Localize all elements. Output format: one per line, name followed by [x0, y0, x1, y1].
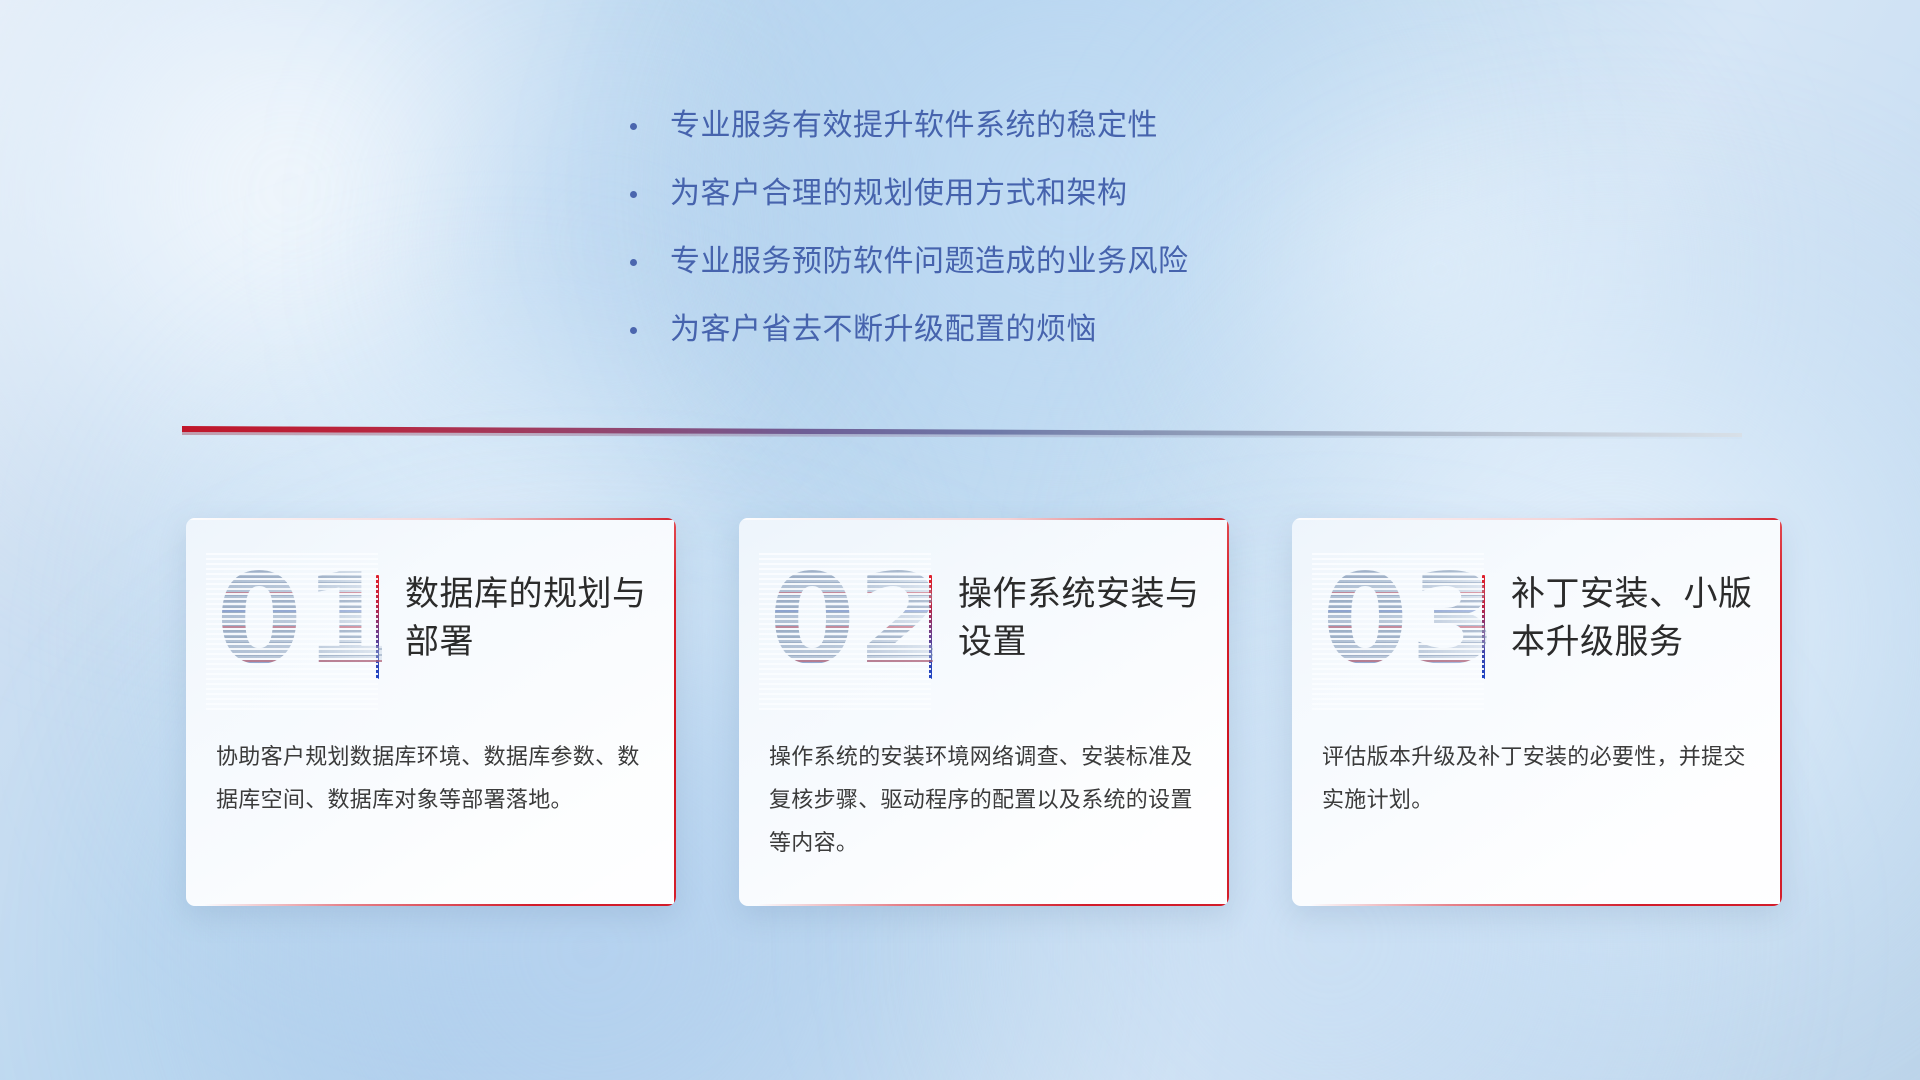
service-card[interactable]: 01 01 01 数据库的规划与部署 协助客户规划数据库环境、数据库参数、数据库… [186, 518, 676, 906]
card-number-badge: 03 03 03 [1322, 570, 1474, 692]
bullet-dot-icon [630, 259, 637, 266]
benefits-bullet-list: 专业服务有效提升软件系统的稳定性 为客户合理的规划使用方式和架构 专业服务预防软… [0, 108, 1920, 348]
card-header: 01 01 01 数据库的规划与部署 [186, 566, 676, 692]
bullet-item-label: 为客户省去不断升级配置的烦恼 [670, 312, 1097, 348]
bullet-item: 专业服务有效提升软件系统的稳定性 [630, 108, 1290, 144]
bullet-item: 为客户合理的规划使用方式和架构 [630, 176, 1290, 212]
card-header: 02 02 02 操作系统安装与设置 [739, 566, 1229, 692]
section-divider [182, 424, 1742, 440]
card-title: 操作系统安装与设置 [958, 566, 1220, 667]
card-bottom-accent [757, 904, 1229, 906]
card-number-blue-scanlines: 03 [1322, 558, 1499, 682]
bullet-dot-icon [630, 191, 637, 198]
bullet-item-label: 为客户合理的规划使用方式和架构 [670, 176, 1128, 212]
card-description: 操作系统的安装环境网络调查、安装标准及复核步骤、驱动程序的配置以及系统的设置等内… [769, 736, 1195, 865]
card-title: 补丁安装、小版本升级服务 [1511, 566, 1773, 667]
card-number-blue-scanlines: 01 [216, 558, 393, 682]
bullet-dot-icon [630, 327, 637, 334]
service-card[interactable]: 02 02 02 操作系统安装与设置 操作系统的安装环境网络调查、安装标准及复核… [739, 518, 1229, 906]
service-card[interactable]: 03 03 03 补丁安装、小版本升级服务 评估版本升级及补丁安装的必要性，并提… [1292, 518, 1782, 906]
bullet-item: 专业服务预防软件问题造成的业务风险 [630, 244, 1290, 280]
card-top-accent [186, 518, 676, 520]
card-description: 协助客户规划数据库环境、数据库参数、数据库空间、数据库对象等部署落地。 [216, 736, 642, 822]
card-header: 03 03 03 补丁安装、小版本升级服务 [1292, 566, 1782, 692]
bullet-item-label: 专业服务有效提升软件系统的稳定性 [670, 108, 1158, 144]
card-top-accent [739, 518, 1229, 520]
card-number-badge: 02 02 02 [769, 570, 921, 692]
bullet-item: 为客户省去不断升级配置的烦恼 [630, 312, 1290, 348]
card-number-blue-scanlines: 02 [769, 558, 946, 682]
card-bottom-accent [204, 904, 676, 906]
bullet-item-label: 专业服务预防软件问题造成的业务风险 [670, 244, 1189, 280]
card-title: 数据库的规划与部署 [405, 566, 667, 667]
card-description: 评估版本升级及补丁安装的必要性，并提交实施计划。 [1322, 736, 1748, 822]
card-number-badge: 01 01 01 [216, 570, 368, 692]
card-top-accent [1292, 518, 1782, 520]
service-card-row: 01 01 01 数据库的规划与部署 协助客户规划数据库环境、数据库参数、数据库… [186, 518, 1782, 906]
bullet-dot-icon [630, 123, 637, 130]
card-bottom-accent [1310, 904, 1782, 906]
